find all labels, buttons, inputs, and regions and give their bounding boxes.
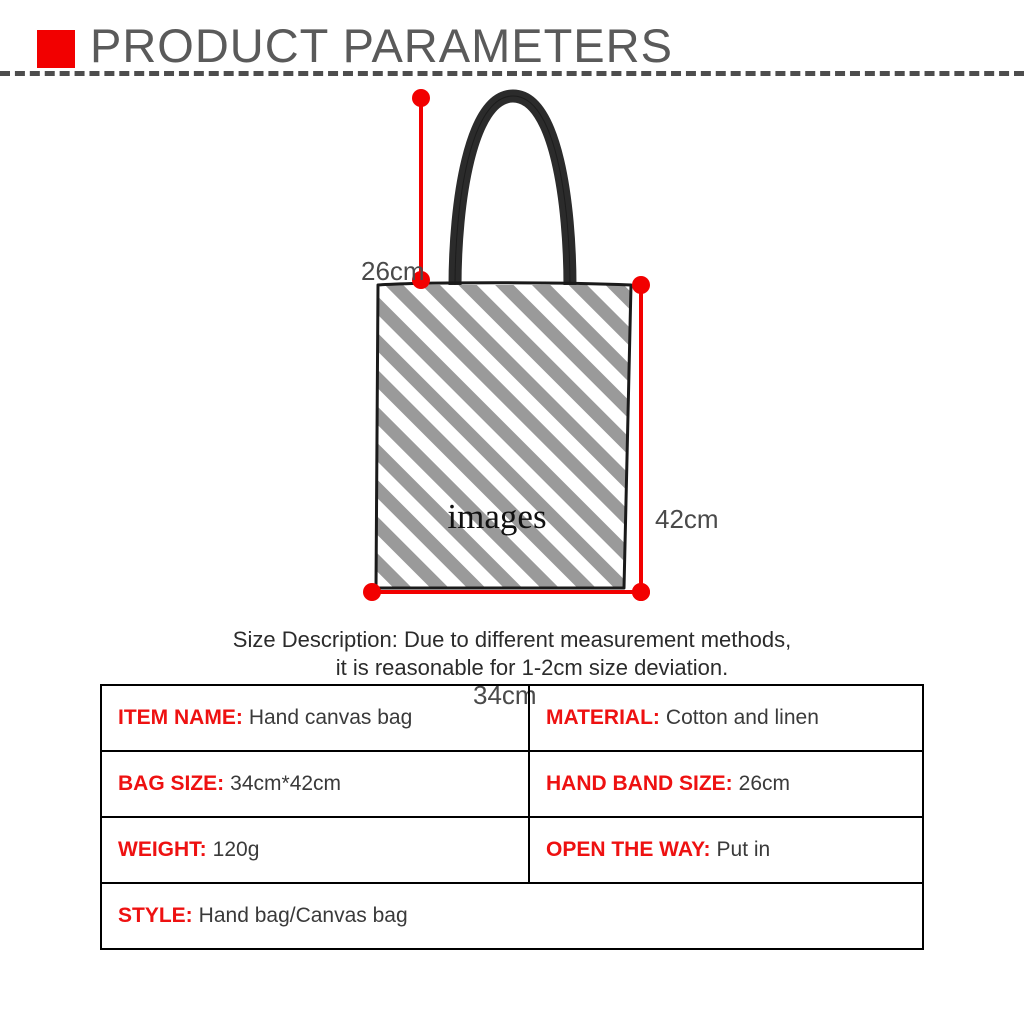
bag-body-icon xyxy=(376,283,631,588)
spec-value-hand-band-size: 26cm xyxy=(733,772,790,795)
spec-key-style: STYLE: xyxy=(118,904,193,927)
table-cell-material: MATERIAL:Cotton and linen xyxy=(529,685,923,751)
size-description-line-1: Size Description: Due to different measu… xyxy=(233,627,791,652)
dimension-bag-height xyxy=(632,276,650,601)
table-row: STYLE:Hand bag/Canvas bag xyxy=(101,883,923,949)
table-cell-bag-size: BAG SIZE:34cm*42cm xyxy=(101,751,529,817)
spec-value-bag-size: 34cm*42cm xyxy=(224,772,341,795)
size-description-line-2: it is reasonable for 1-2cm size deviatio… xyxy=(0,654,1024,682)
spec-value-weight: 120g xyxy=(207,838,260,861)
spec-value-open-the-way: Put in xyxy=(711,838,771,861)
spec-value-material: Cotton and linen xyxy=(660,706,819,729)
dimension-label-bag-height: 42cm xyxy=(655,504,719,535)
header-accent-square xyxy=(37,30,75,68)
table-row: BAG SIZE:34cm*42cm HAND BAND SIZE:26cm xyxy=(101,751,923,817)
dimension-label-handle-drop: 26cm xyxy=(361,256,425,287)
bag-illustration xyxy=(0,84,1024,614)
table-cell-open-the-way: OPEN THE WAY:Put in xyxy=(529,817,923,883)
spec-key-hand-band-size: HAND BAND SIZE: xyxy=(546,772,733,795)
spec-key-material: MATERIAL: xyxy=(546,706,660,729)
size-description: Size Description: Due to different measu… xyxy=(0,626,1024,682)
bag-handle-icon xyxy=(455,96,570,287)
spec-key-bag-size: BAG SIZE: xyxy=(118,772,224,795)
table-cell-style: STYLE:Hand bag/Canvas bag xyxy=(101,883,923,949)
spec-value-style: Hand bag/Canvas bag xyxy=(193,904,408,927)
table-row: ITEM NAME:Hand canvas bag MATERIAL:Cotto… xyxy=(101,685,923,751)
table-row: WEIGHT:120g OPEN THE WAY:Put in xyxy=(101,817,923,883)
page-title: PRODUCT PARAMETERS xyxy=(90,18,673,73)
spec-key-weight: WEIGHT: xyxy=(118,838,207,861)
bag-diagram: images 26cm 42cm 34cm xyxy=(0,84,1024,614)
table-cell-hand-band-size: HAND BAND SIZE:26cm xyxy=(529,751,923,817)
page-header: PRODUCT PARAMETERS xyxy=(0,0,1024,84)
spec-key-open-the-way: OPEN THE WAY: xyxy=(546,838,711,861)
specification-table: ITEM NAME:Hand canvas bag MATERIAL:Cotto… xyxy=(100,684,924,950)
spec-value-item-name: Hand canvas bag xyxy=(243,706,412,729)
header-divider xyxy=(0,71,1024,76)
table-cell-weight: WEIGHT:120g xyxy=(101,817,529,883)
spec-key-item-name: ITEM NAME: xyxy=(118,706,243,729)
table-cell-item-name: ITEM NAME:Hand canvas bag xyxy=(101,685,529,751)
